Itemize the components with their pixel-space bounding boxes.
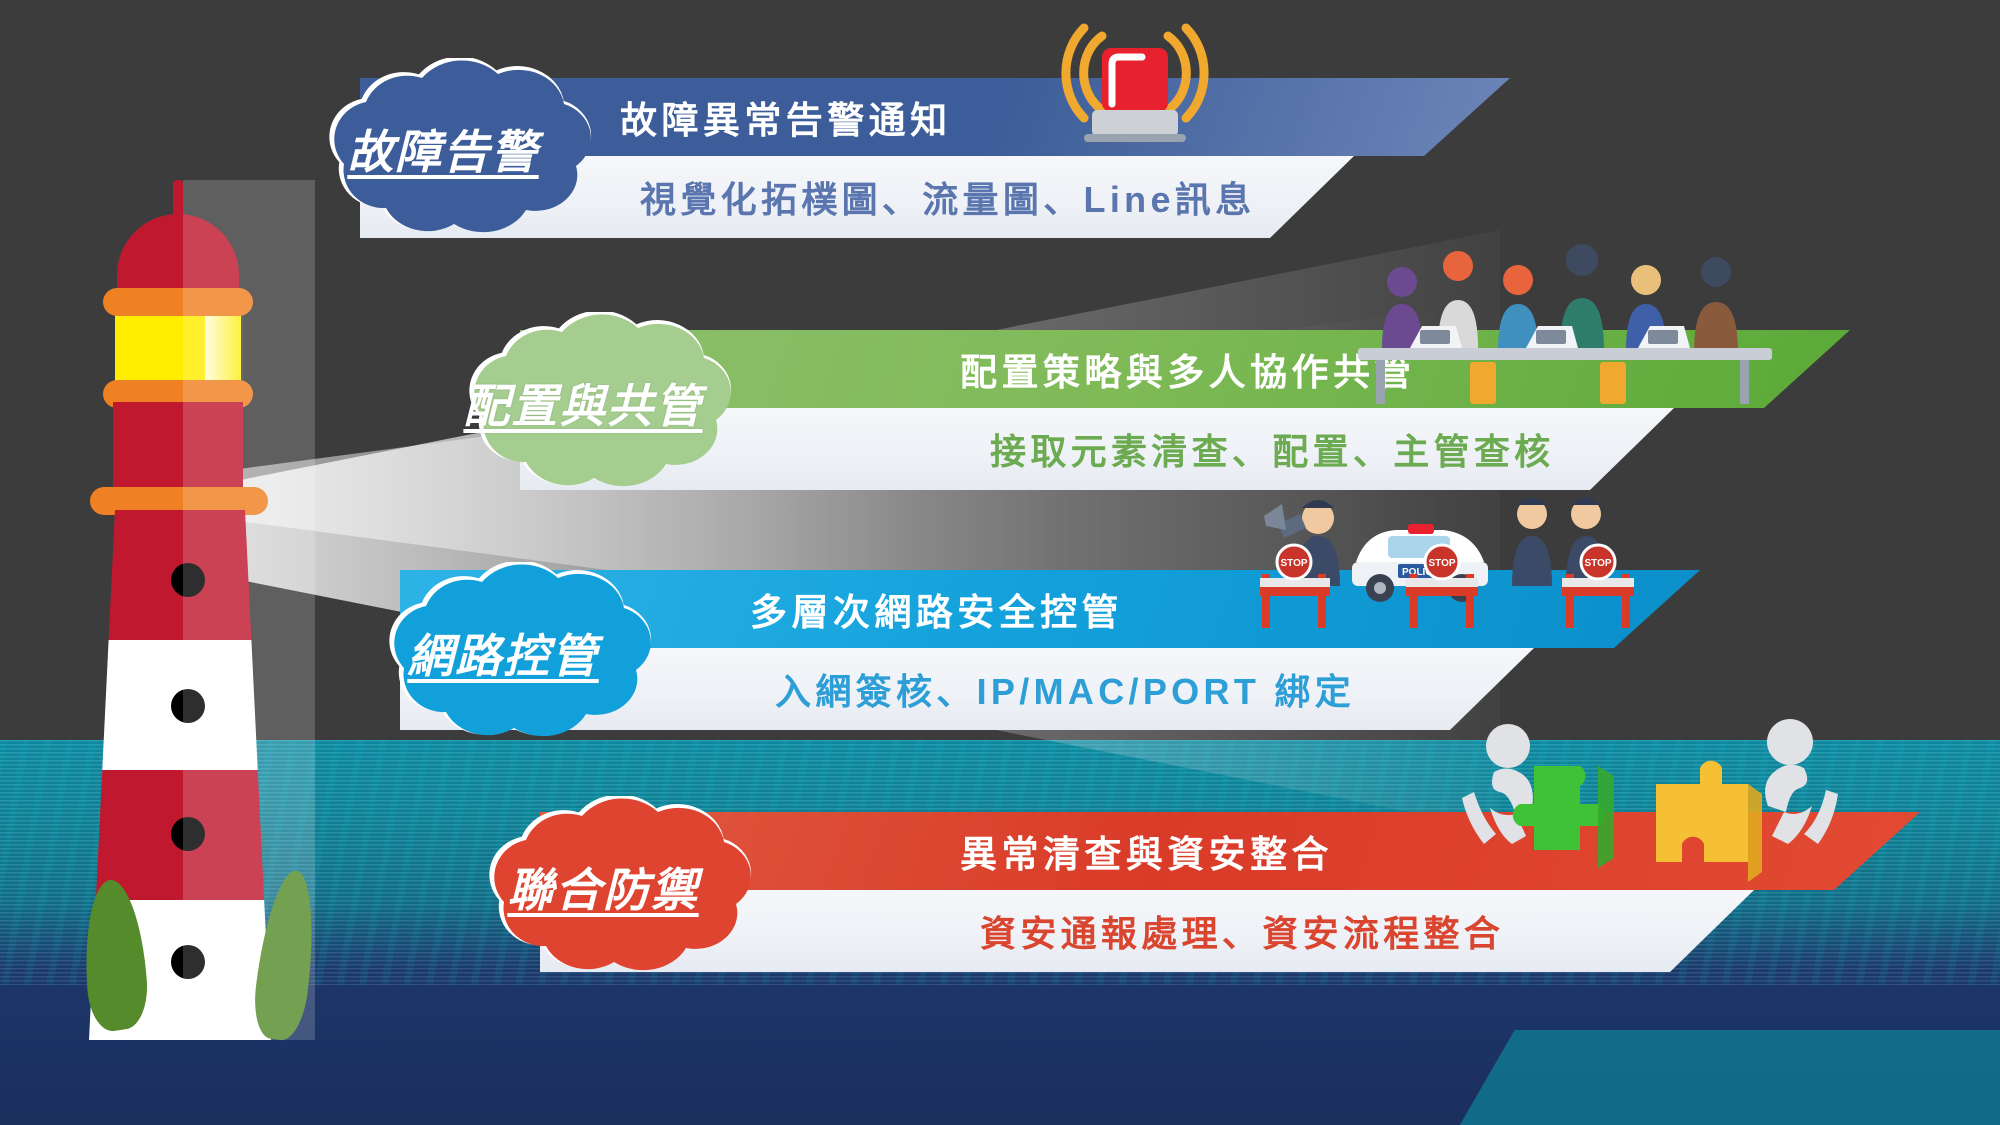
police-checkpoint-icon: POLICE xyxy=(1260,478,1680,650)
stop-sign-label-2: STOP xyxy=(1428,558,1455,569)
lighthouse xyxy=(55,180,315,1040)
cloud-net[interactable]: 網路控管 xyxy=(340,562,700,752)
banner-config-headline: 配置策略與多人協作共管 xyxy=(960,342,1416,396)
alarm-siren-icon xyxy=(1050,6,1220,158)
cloud-config[interactable]: 配置與共管 xyxy=(420,312,780,502)
stop-sign-label-3: STOP xyxy=(1584,558,1611,569)
lighthouse-band-top xyxy=(103,288,253,316)
banner-net-subline: 入網簽核、IP/MAC/PORT 綁定 xyxy=(775,663,1355,715)
banner-def-subline: 資安通報處理、資安流程整合 xyxy=(980,905,1504,957)
lighthouse-neck xyxy=(113,402,243,494)
team-collaboration-icon xyxy=(1350,230,1780,408)
cloud-alarm-label: 故障告警 xyxy=(280,58,640,248)
infographic-canvas: 故障異常告警通知 視覺化拓樸圖、流量圖、Line訊息 xyxy=(0,0,2000,1125)
banner-config-subline: 接取元素清查、配置、主管查核 xyxy=(990,423,1554,475)
stop-sign-label-1: STOP xyxy=(1280,558,1307,569)
background-shore xyxy=(1445,1030,2000,1125)
cloud-net-label: 網路控管 xyxy=(340,562,700,752)
cloud-alarm[interactable]: 故障告警 xyxy=(280,58,640,248)
banner-alarm-headline: 故障異常告警通知 xyxy=(620,90,952,144)
cloud-config-label: 配置與共管 xyxy=(420,312,780,502)
lighthouse-lamp-glow xyxy=(205,310,245,382)
banner-net-headline: 多層次網路安全控管 xyxy=(750,582,1123,636)
banner-def-headline: 異常清查與資安整合 xyxy=(960,824,1333,878)
banner-alarm-subline: 視覺化拓樸圖、流量圖、Line訊息 xyxy=(640,171,1255,223)
cloud-def-label: 聯合防禦 xyxy=(440,796,800,986)
cloud-def[interactable]: 聯合防禦 xyxy=(440,796,800,986)
puzzle-teamwork-icon xyxy=(1460,712,1840,892)
